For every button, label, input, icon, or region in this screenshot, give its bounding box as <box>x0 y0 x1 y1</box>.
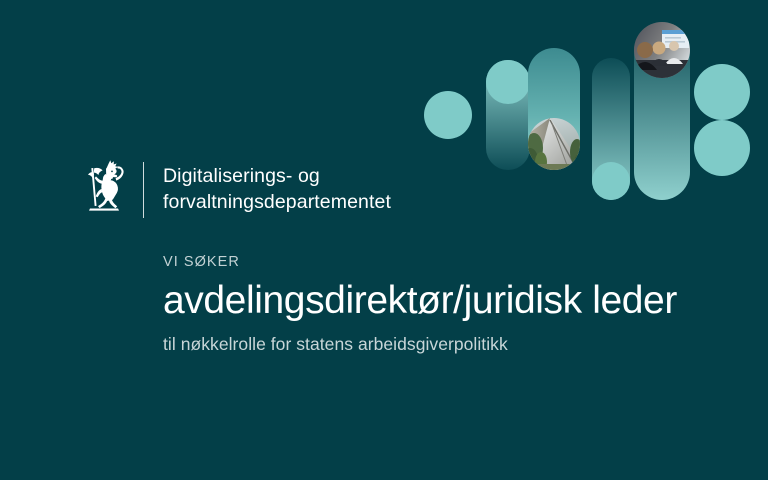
eyebrow-label: VI SØKER <box>163 254 763 270</box>
photo-architecture <box>522 118 586 174</box>
brand-lockup: Digitaliserings- og forvaltningsdepartem… <box>84 158 391 222</box>
job-posting-text-block: VI SØKER avdelingsdirektør/juridisk lede… <box>163 254 763 355</box>
decor-pill-5 <box>632 22 690 200</box>
decor-circle-7 <box>694 120 750 176</box>
decor-pill-4 <box>592 58 630 200</box>
logo-divider <box>143 162 144 218</box>
decor-pill-2 <box>486 60 530 170</box>
waveform-pills-graphic <box>420 0 768 215</box>
norwegian-coat-of-arms-lion-icon <box>84 158 131 222</box>
page-title: avdelingsdirektør/juridisk leder <box>163 279 763 323</box>
department-name: Digitaliserings- og forvaltningsdepartem… <box>163 164 391 215</box>
decor-circle-1 <box>424 91 472 139</box>
decor-pill-3 <box>522 48 586 174</box>
subtitle: til nøkkelrolle for statens arbeidsgiver… <box>163 333 763 356</box>
photo-meeting <box>632 22 690 78</box>
decor-circle-6 <box>694 64 750 120</box>
